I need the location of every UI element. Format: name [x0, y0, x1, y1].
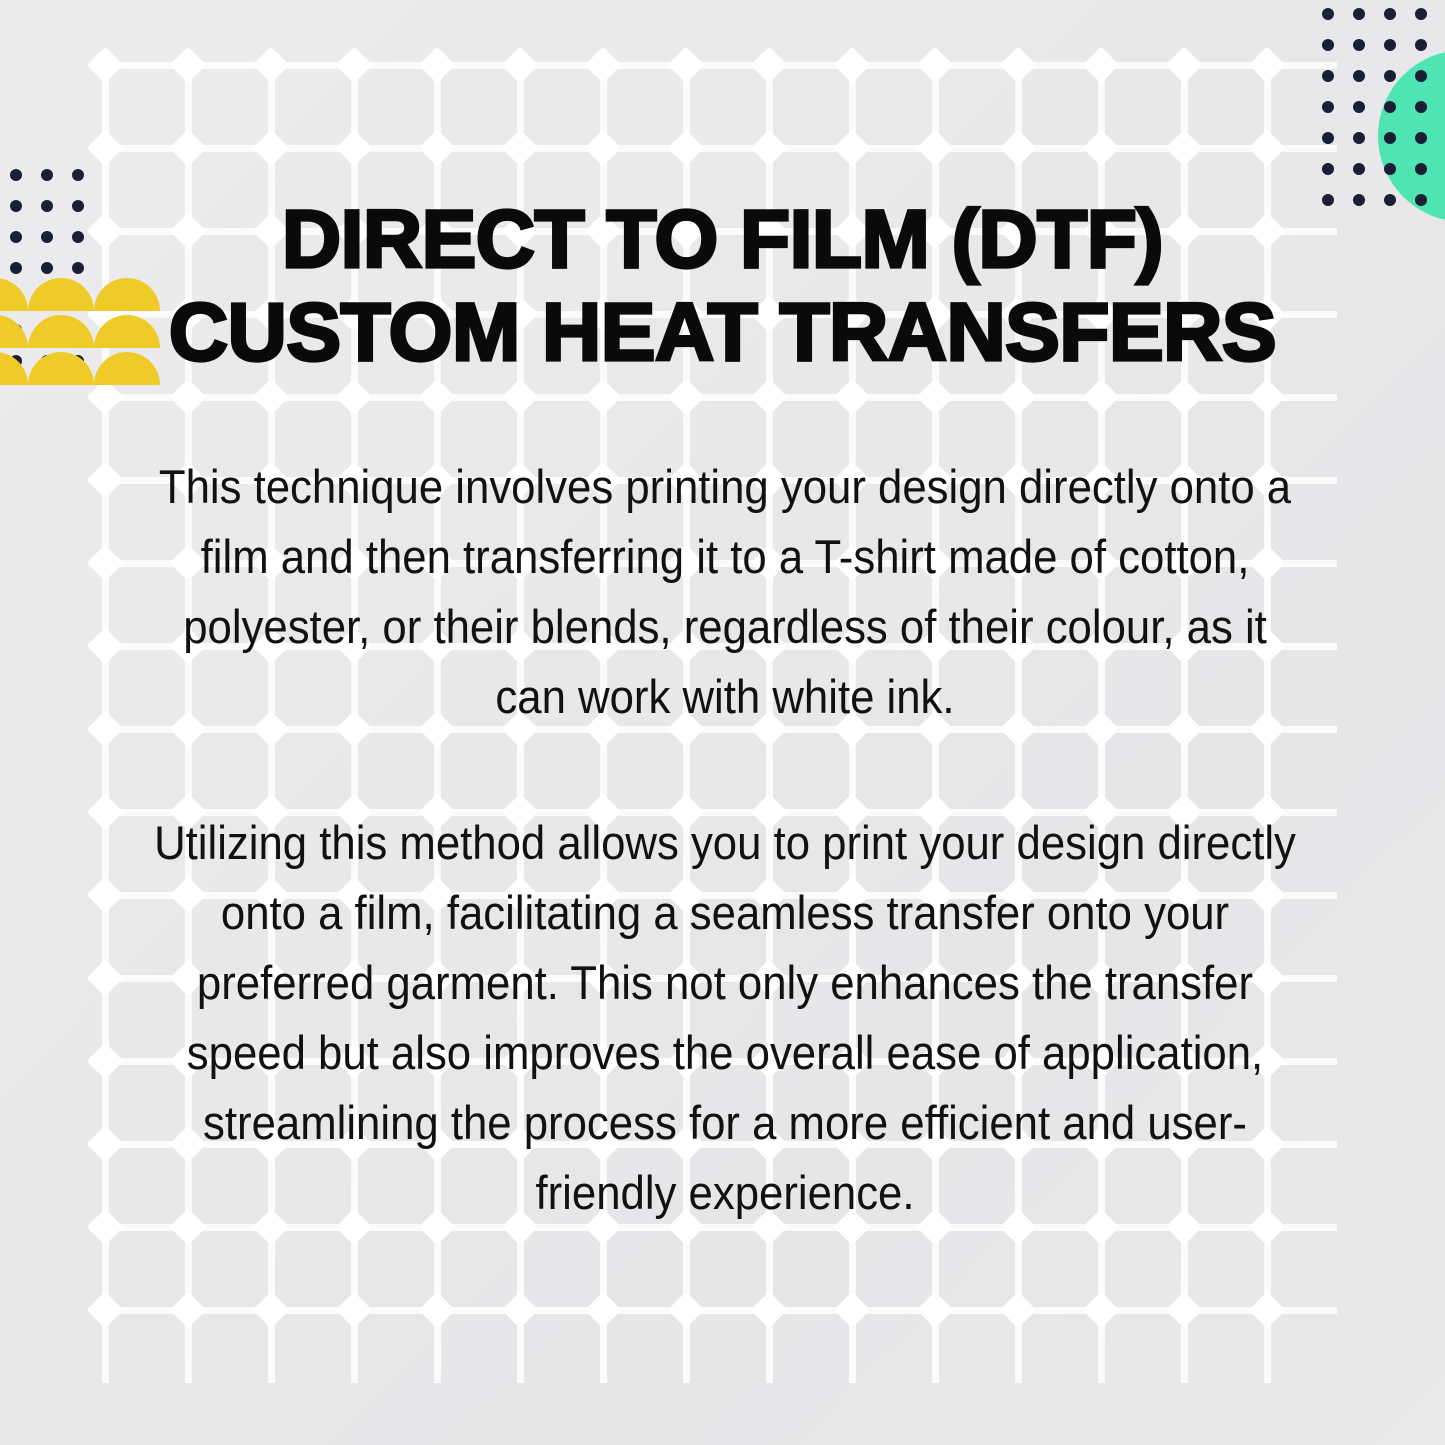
grid-node-diamond: [336, 47, 373, 84]
decorative-dot: [1353, 132, 1365, 144]
grid-node-diamond: [917, 1292, 954, 1329]
grid-node-diamond: [87, 877, 124, 914]
decorative-dot: [10, 169, 22, 181]
decorative-dot: [1415, 39, 1427, 51]
grid-node-diamond: [1166, 47, 1203, 84]
grid-node-diamond: [419, 379, 456, 416]
grid-node-diamond: [419, 47, 456, 84]
grid-node-diamond: [87, 1292, 124, 1329]
grid-node-diamond: [336, 130, 373, 167]
poster-canvas: DIRECT TO FILM (DTF) CUSTOM HEAT TRANSFE…: [0, 0, 1445, 1445]
grid-node-diamond: [585, 379, 622, 416]
decorative-dot: [1415, 163, 1427, 175]
decorative-dot: [1353, 39, 1365, 51]
grid-node-diamond: [668, 47, 705, 84]
grid-node-diamond: [253, 47, 290, 84]
decorative-dot: [1322, 70, 1334, 82]
grid-node-diamond: [834, 379, 871, 416]
grid-node-diamond: [419, 130, 456, 167]
grid-node-diamond: [1083, 379, 1120, 416]
grid-node-diamond: [1249, 1292, 1286, 1329]
grid-node-diamond: [170, 1292, 207, 1329]
grid-node-diamond: [1000, 379, 1037, 416]
grid-node-diamond: [87, 47, 124, 84]
grid-node-diamond: [1166, 379, 1203, 416]
page-title-line-2: CUSTOM HEAT TRANSFERS: [0, 286, 1445, 379]
grid-node-diamond: [336, 1292, 373, 1329]
grid-node-diamond: [87, 1209, 124, 1246]
grid-node-diamond: [253, 379, 290, 416]
page-title: DIRECT TO FILM (DTF) CUSTOM HEAT TRANSFE…: [0, 193, 1445, 379]
grid-node-diamond: [253, 130, 290, 167]
grid-node-diamond: [668, 379, 705, 416]
decorative-dot: [1322, 39, 1334, 51]
decorative-dot: [1322, 8, 1334, 20]
body-copy: This technique involves printing your de…: [144, 452, 1307, 1228]
decorative-dot: [1322, 163, 1334, 175]
decorative-dot: [1353, 163, 1365, 175]
grid-node-diamond: [917, 130, 954, 167]
grid-node-diamond: [585, 130, 622, 167]
grid-node-diamond: [87, 794, 124, 831]
grid-node-diamond: [1166, 130, 1203, 167]
grid-line-horizontal: [105, 1307, 1337, 1314]
grid-node-diamond: [170, 130, 207, 167]
grid-node-diamond: [1000, 1292, 1037, 1329]
decorative-dot: [1384, 132, 1396, 144]
body-paragraph-2: Utilizing this method allows you to prin…: [144, 808, 1307, 1228]
grid-node-diamond: [751, 130, 788, 167]
grid-node-diamond: [502, 130, 539, 167]
grid-node-diamond: [170, 379, 207, 416]
grid-node-diamond: [1083, 130, 1120, 167]
decorative-dot: [1322, 101, 1334, 113]
decorative-dot: [41, 169, 53, 181]
grid-node-diamond: [87, 1126, 124, 1163]
grid-node-diamond: [87, 711, 124, 748]
decorative-dot: [1353, 70, 1365, 82]
page-title-line-1: DIRECT TO FILM (DTF): [0, 193, 1445, 286]
grid-node-diamond: [1166, 1292, 1203, 1329]
grid-node-diamond: [668, 130, 705, 167]
decorative-dot: [1353, 8, 1365, 20]
decorative-dot: [1415, 70, 1427, 82]
grid-node-diamond: [170, 47, 207, 84]
decorative-dot: [1384, 163, 1396, 175]
grid-node-diamond: [1249, 130, 1286, 167]
grid-node-diamond: [1249, 379, 1286, 416]
decorative-dot: [1353, 101, 1365, 113]
grid-node-diamond: [751, 1292, 788, 1329]
grid-node-diamond: [87, 130, 124, 167]
grid-node-diamond: [834, 47, 871, 84]
grid-node-diamond: [502, 47, 539, 84]
grid-line-horizontal: [105, 145, 1337, 152]
decorative-dot: [1384, 39, 1396, 51]
grid-node-diamond: [917, 47, 954, 84]
grid-node-diamond: [87, 1043, 124, 1080]
grid-node-diamond: [1083, 1292, 1120, 1329]
grid-node-diamond: [87, 628, 124, 665]
grid-node-diamond: [1083, 47, 1120, 84]
grid-node-diamond: [253, 1292, 290, 1329]
grid-node-diamond: [87, 960, 124, 997]
grid-node-diamond: [585, 47, 622, 84]
grid-node-diamond: [1000, 47, 1037, 84]
decorative-dot: [1384, 101, 1396, 113]
grid-node-diamond: [1000, 130, 1037, 167]
grid-line-horizontal: [105, 394, 1337, 401]
grid-node-diamond: [751, 47, 788, 84]
grid-node-diamond: [87, 462, 124, 499]
grid-node-diamond: [585, 1292, 622, 1329]
decorative-dot: [1415, 8, 1427, 20]
decorative-dot: [72, 169, 84, 181]
decorative-dot: [1322, 132, 1334, 144]
grid-node-diamond: [502, 1292, 539, 1329]
decorative-dot: [1415, 132, 1427, 144]
grid-node-diamond: [87, 545, 124, 582]
decorative-dot: [1415, 101, 1427, 113]
decorative-dot: [1384, 8, 1396, 20]
grid-node-diamond: [336, 379, 373, 416]
grid-node-diamond: [751, 379, 788, 416]
grid-line-horizontal: [105, 62, 1337, 69]
grid-node-diamond: [1249, 47, 1286, 84]
grid-node-diamond: [419, 1292, 456, 1329]
body-paragraph-1: This technique involves printing your de…: [144, 452, 1307, 732]
grid-node-diamond: [917, 379, 954, 416]
grid-node-diamond: [502, 379, 539, 416]
grid-node-diamond: [834, 130, 871, 167]
grid-node-diamond: [668, 1292, 705, 1329]
grid-node-diamond: [834, 1292, 871, 1329]
decorative-dot: [1384, 70, 1396, 82]
